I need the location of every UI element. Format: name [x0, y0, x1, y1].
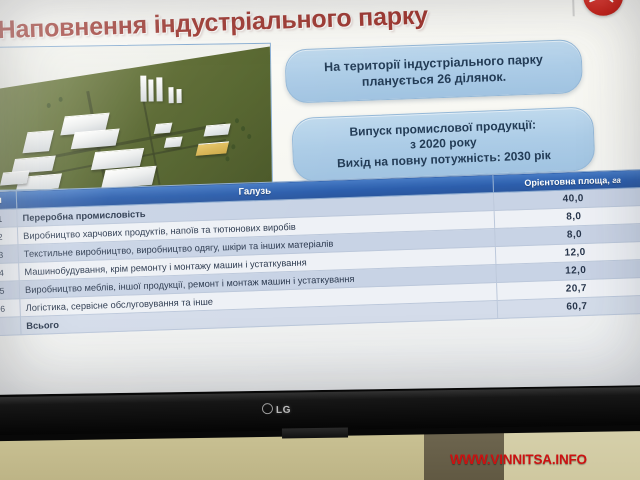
- callout-production-timeline: Випуск промислової продукції: з 2020 рок…: [291, 106, 595, 182]
- cell-number: 1: [0, 209, 17, 228]
- table-body: 1Переробна промисловість40,02Виробництво…: [0, 187, 640, 336]
- lg-brand-text: LG: [276, 405, 291, 416]
- logo-divider: [572, 0, 575, 16]
- column-header-number: п: [0, 191, 17, 210]
- cell-number: 2: [0, 227, 18, 246]
- lg-circle-icon: [262, 403, 273, 414]
- monitor-stand: [282, 427, 348, 438]
- red-circle-logo-icon: [583, 0, 624, 16]
- cell-number: [0, 317, 21, 336]
- page-title: Наповнення індустріального парку: [0, 0, 558, 45]
- branches-table: п Галузь Орієнтовна площа, га 1Переробна…: [0, 169, 640, 337]
- branches-table-wrapper: п Галузь Орієнтовна площа, га 1Переробна…: [0, 169, 640, 337]
- slide-screen[interactable]: Вінницьк Наповнення індустріального парк…: [0, 0, 640, 395]
- column-header-area-unit: га: [612, 175, 621, 184]
- site-watermark: WWW.VINNITSA.INFO: [450, 452, 587, 467]
- cell-number: 5: [0, 281, 20, 300]
- callout-plots-count: На території індустріального парку плану…: [284, 39, 583, 104]
- lg-brand-logo: LG: [262, 403, 291, 416]
- industrial-park-render-image: [0, 43, 273, 191]
- cell-number: 3: [0, 245, 19, 264]
- column-header-area-text: Орієнтовна площа,: [524, 175, 612, 188]
- presentation-photo: Вінницьк Наповнення індустріального парк…: [0, 0, 640, 480]
- cell-number: 4: [0, 263, 19, 282]
- cell-number: 6: [0, 299, 20, 318]
